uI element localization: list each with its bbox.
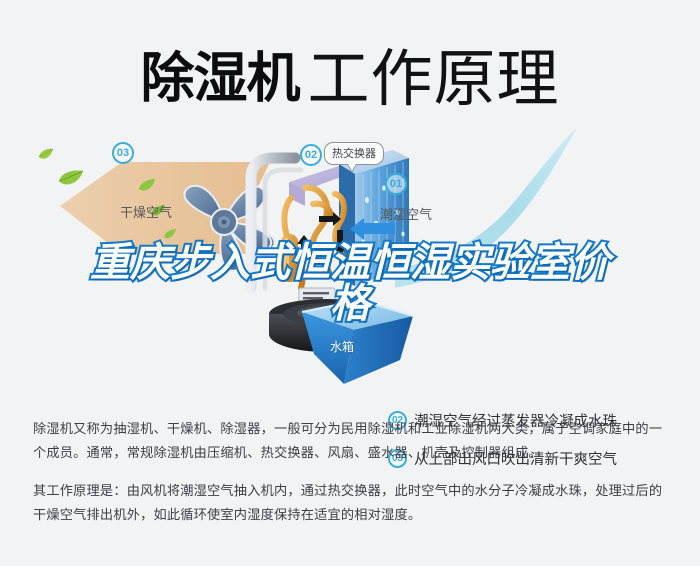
dry-air-label: 干燥空气 <box>120 202 172 221</box>
page-title-primary: 除湿机 <box>140 47 299 110</box>
body-copy: 除湿机又称为抽湿机、干燥机、除湿器，一般可分为民用除湿机和工业除湿机两大类，属于… <box>33 418 673 528</box>
water-tank-icon <box>300 298 415 388</box>
infographic-page: 除湿机工作原理 <box>0 0 700 566</box>
page-title-secondary: 工作原理 <box>307 45 559 114</box>
body-paragraph-2: 其工作原理是：由风机将潮湿空气抽入机内，通过热交换器，此时空气中的水分子冷凝成水… <box>33 480 673 528</box>
leaf-icon <box>138 178 156 194</box>
body-paragraph-1: 除湿机又称为抽湿机、干燥机、除湿器，一般可分为民用除湿机和工业除湿机两大类，属于… <box>33 418 673 466</box>
diagram-badge-03: 03 <box>112 142 134 164</box>
diagram-badge-02: 02 <box>300 144 322 166</box>
humid-air-inflow-arrow-icon <box>350 218 396 240</box>
page-title: 除湿机工作原理 <box>0 28 700 118</box>
heat-exchanger-callout: 热交换器 <box>324 142 384 165</box>
dehumidifier-diagram: 03 02 01 热交换器 干燥空气 潮湿空气 水箱 02 潮湿空气经过蒸发器冷… <box>0 120 700 400</box>
leaf-icon <box>38 148 54 162</box>
diagram-badge-01: 01 <box>385 173 407 195</box>
water-tank-label: 水箱 <box>330 338 354 355</box>
leaf-icon <box>58 169 84 189</box>
